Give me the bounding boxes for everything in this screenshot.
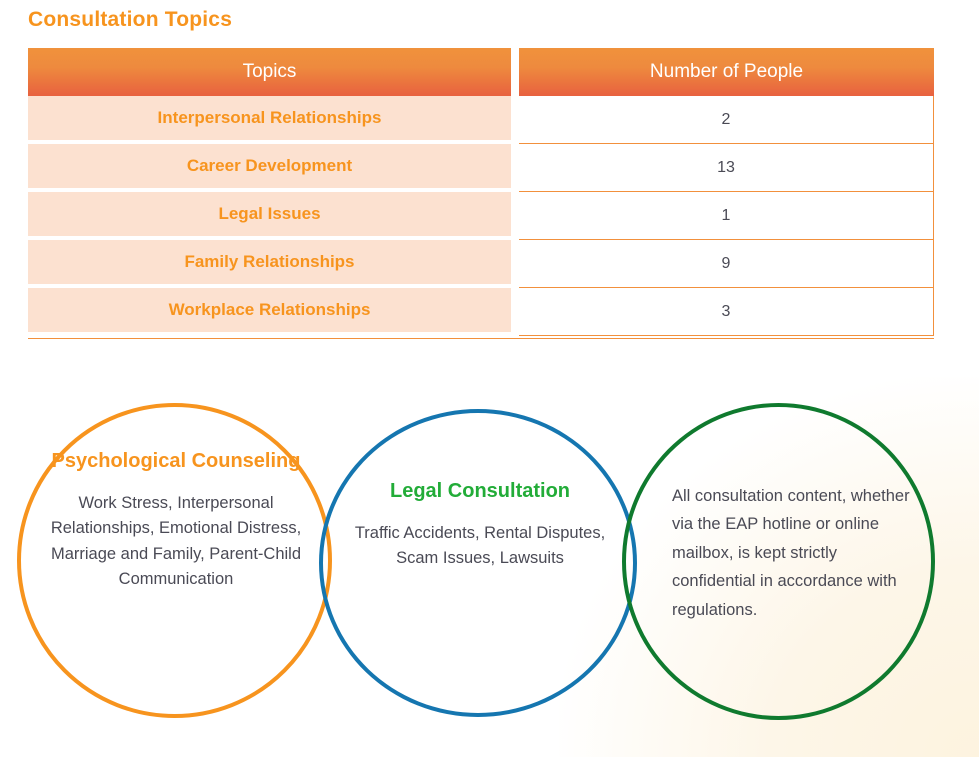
legal-consultation-content: Legal Consultation Traffic Accidents, Re… [352,478,608,572]
venn-circles-group: Psychological Counseling Work Stress, In… [0,0,979,757]
legal-consultation-body: Traffic Accidents, Rental Disputes, Scam… [352,521,608,572]
psychological-counseling-body: Work Stress, Interpersonal Relationships… [36,491,316,593]
psychological-counseling-title: Psychological Counseling [36,448,316,475]
psychological-counseling-content: Psychological Counseling Work Stress, In… [36,448,316,593]
legal-consultation-title: Legal Consultation [352,478,608,505]
confidentiality-note-content: All consultation content, whether via th… [672,482,920,624]
confidentiality-note-body: All consultation content, whether via th… [672,482,920,624]
